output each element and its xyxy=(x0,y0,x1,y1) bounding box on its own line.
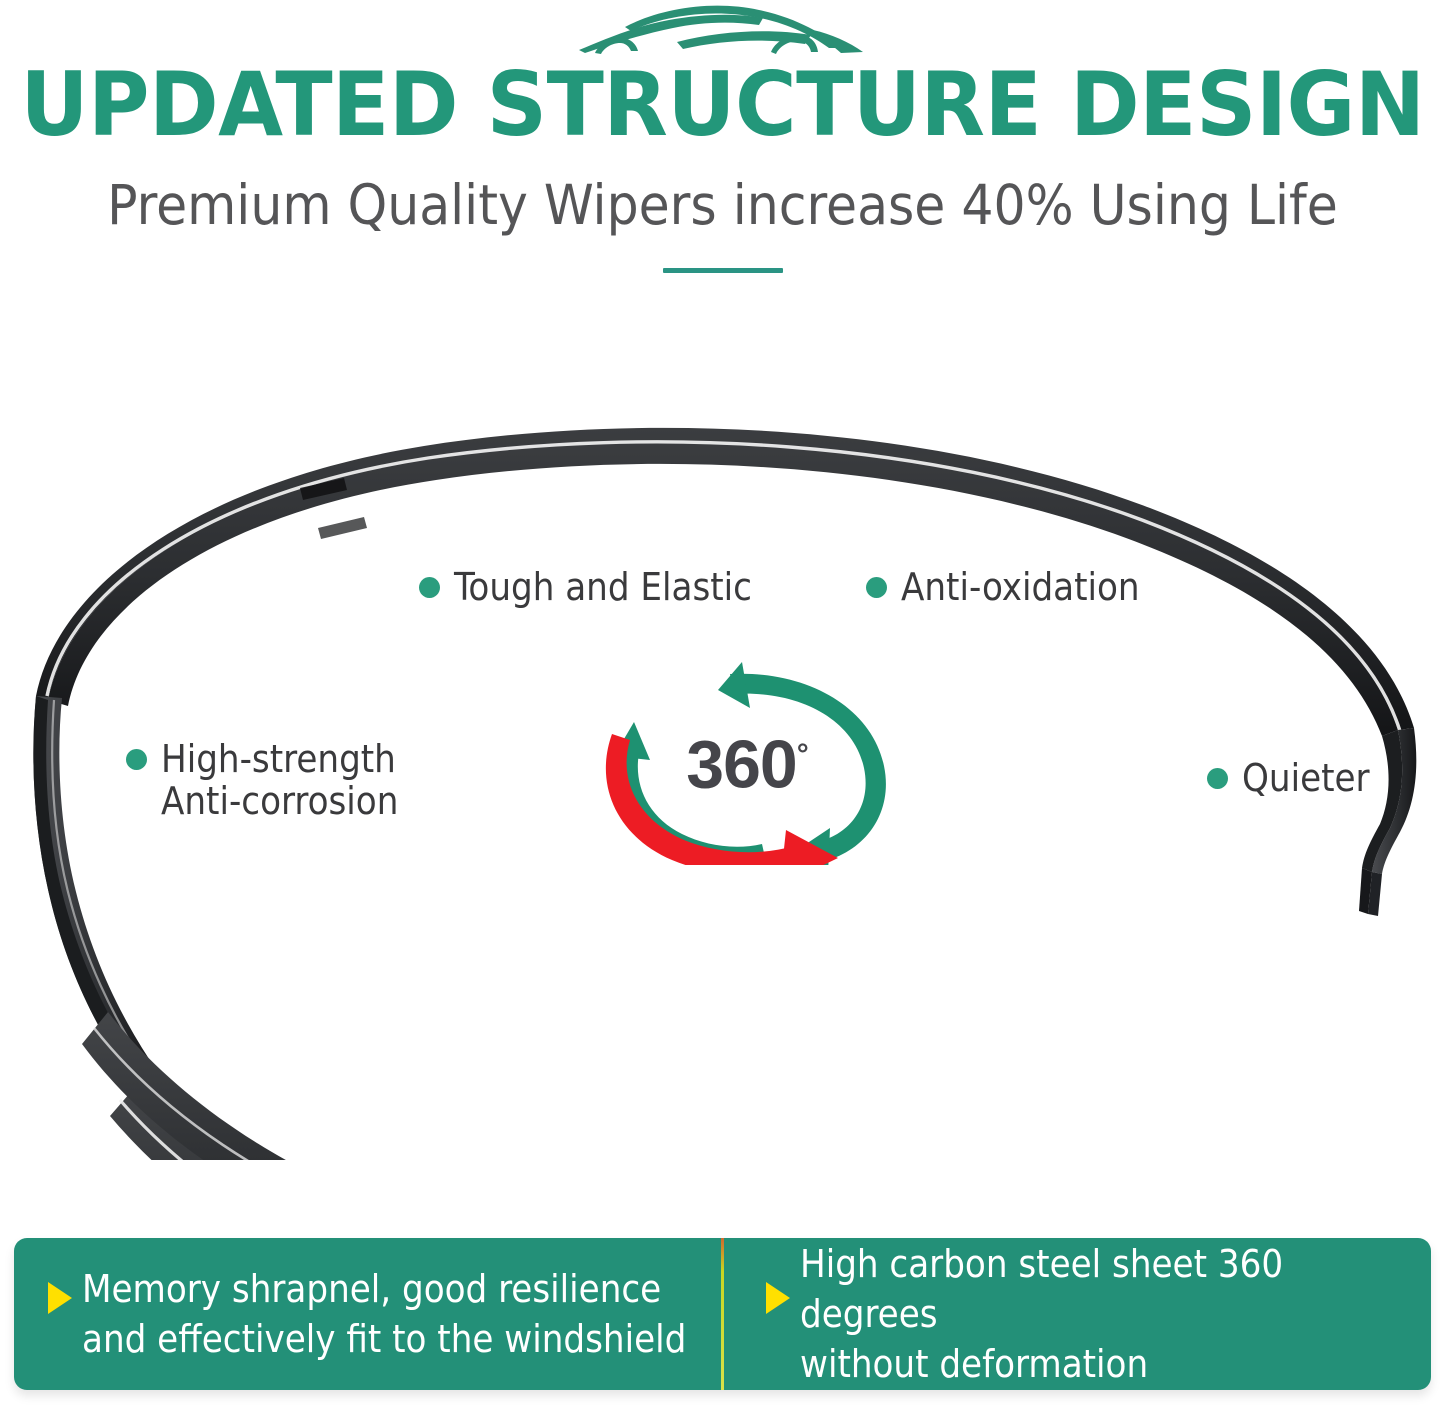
badge-value: 360° xyxy=(572,720,922,800)
banner-item-right: High carbon steel sheet 360 degrees with… xyxy=(724,1238,1431,1390)
banner-text: High carbon steel sheet 360 degrees with… xyxy=(800,1239,1431,1389)
rotation-360-badge: 360° xyxy=(572,660,922,865)
feature-quieter: Quieter xyxy=(1207,757,1370,799)
product-infographic: UPDATED STRUCTURE DESIGN Premium Quality… xyxy=(0,0,1445,1421)
triangle-bullet-icon xyxy=(48,1282,72,1314)
page-subtitle: Premium Quality Wipers increase 40% Usin… xyxy=(0,174,1445,236)
feature-anti-oxidation: Anti-oxidation xyxy=(866,566,1140,608)
feature-high-strength-anti-corrosion: High-strength Anti-corrosion xyxy=(126,738,398,822)
banner-text: Memory shrapnel, good resilience and eff… xyxy=(82,1264,686,1364)
feature-label: Quieter xyxy=(1242,757,1370,799)
bottom-feature-banner: Memory shrapnel, good resilience and eff… xyxy=(14,1238,1431,1390)
feature-tough-and-elastic: Tough and Elastic xyxy=(419,566,752,608)
title-divider xyxy=(663,268,783,273)
page-title: UPDATED STRUCTURE DESIGN xyxy=(0,59,1445,151)
feature-label: Tough and Elastic xyxy=(454,566,752,608)
banner-item-left: Memory shrapnel, good resilience and eff… xyxy=(14,1238,721,1390)
feature-label: High-strength Anti-corrosion xyxy=(161,738,398,822)
bullet-dot-icon xyxy=(126,749,147,770)
bullet-dot-icon xyxy=(1207,768,1228,789)
bullet-dot-icon xyxy=(419,577,440,598)
triangle-bullet-icon xyxy=(766,1282,790,1314)
bullet-dot-icon xyxy=(866,577,887,598)
feature-label: Anti-oxidation xyxy=(901,566,1140,608)
